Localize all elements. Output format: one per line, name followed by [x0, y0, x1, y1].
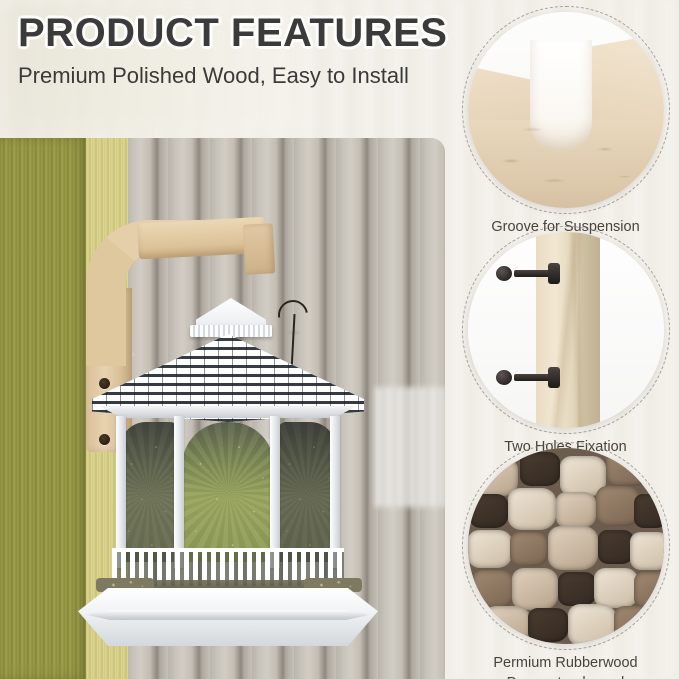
- screw-washer: [548, 367, 560, 388]
- callout-circle-wrap: [468, 448, 664, 644]
- bracket-tip: [243, 223, 276, 275]
- groove-wood-grain: [468, 12, 664, 208]
- background-railing: [375, 387, 445, 507]
- firewood-logs: [468, 448, 664, 644]
- main-product-photo: [0, 138, 445, 679]
- bird-feeder: [78, 298, 378, 638]
- firewood-stack-icon: [468, 448, 664, 644]
- product-feature-page: PRODUCT FEATURES Premium Polished Wood, …: [0, 0, 679, 679]
- log: [520, 452, 560, 486]
- callout-rubberwood: Permium Rubberwood Pure natural wood: [452, 448, 679, 679]
- callout-column: Groove for Suspension: [452, 0, 679, 679]
- log: [556, 492, 596, 528]
- feeder-base-lip: [84, 610, 372, 620]
- log: [598, 530, 634, 564]
- mounting-post-treated: [0, 138, 86, 679]
- page-subtitle: Premium Polished Wood, Easy to Install: [18, 62, 418, 90]
- log: [634, 494, 664, 528]
- page-title: PRODUCT FEATURES: [18, 13, 447, 53]
- log: [596, 486, 640, 526]
- feeder-column: [330, 416, 340, 568]
- log: [508, 488, 556, 530]
- feeder-cupola: [196, 298, 266, 328]
- callout-label: Permium Rubberwood Pure natural wood: [458, 654, 673, 679]
- feeder-column: [174, 416, 184, 568]
- log: [606, 450, 648, 486]
- feeder-panel-right: [278, 422, 336, 562]
- callout-circle-wrap: [468, 232, 664, 428]
- callout-two-holes: Two Holes Fixation: [452, 232, 679, 458]
- feeder-column: [270, 416, 280, 568]
- log: [568, 604, 616, 644]
- callout-label-line2: Pure natural wood: [458, 674, 673, 679]
- screw-washer: [548, 263, 560, 284]
- feeder-column: [116, 416, 126, 568]
- feeder-panel-center: [182, 422, 274, 562]
- screw-head: [496, 266, 512, 281]
- post-wood-grain: [536, 232, 600, 428]
- log: [484, 606, 530, 644]
- log: [512, 568, 558, 610]
- callout-circle-wrap: [468, 12, 664, 208]
- header: PRODUCT FEATURES Premium Polished Wood, …: [0, 0, 460, 138]
- log: [558, 572, 596, 606]
- log: [634, 572, 664, 608]
- screw-head: [496, 370, 512, 385]
- callout-groove: Groove for Suspension: [452, 12, 679, 238]
- log: [472, 570, 514, 608]
- log: [528, 608, 568, 642]
- log: [630, 532, 664, 570]
- log: [470, 494, 508, 528]
- feeder-panel-left: [120, 422, 178, 562]
- log: [510, 532, 548, 566]
- feeder-cupola-band: [190, 325, 272, 337]
- screws-in-post-icon: [468, 232, 664, 428]
- log: [548, 526, 598, 570]
- log: [594, 568, 638, 608]
- callout-label-line1: Permium Rubberwood: [458, 654, 673, 674]
- log: [614, 606, 654, 644]
- feeder-body: [120, 416, 336, 568]
- wood-groove-icon: [468, 12, 664, 208]
- log: [468, 530, 512, 568]
